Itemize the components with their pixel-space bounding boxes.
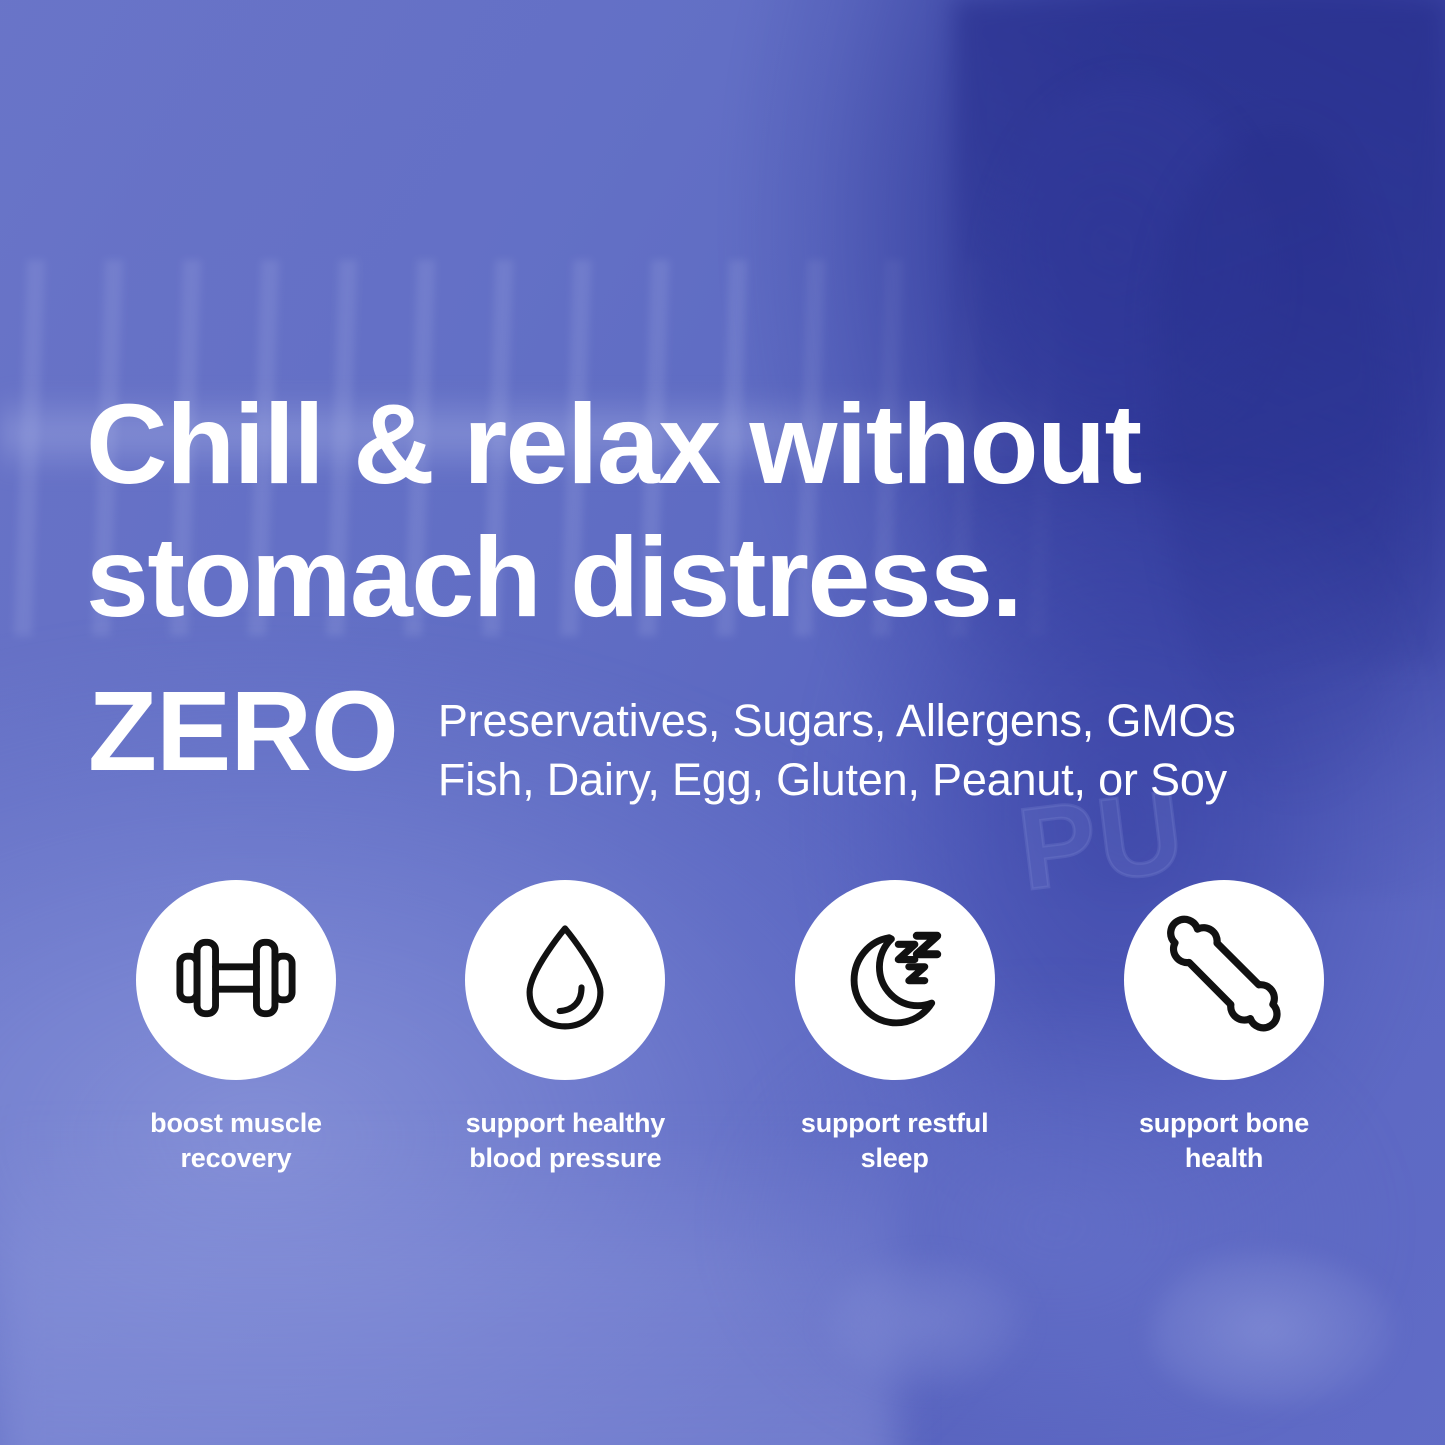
bone-icon [1157,911,1291,1050]
icon-badge-circle [795,880,995,1080]
benefit-item-restful-sleep: support restful sleep [745,880,1045,1175]
benefit-label: boost muscle recovery [150,1106,322,1175]
benefit-item-bone-health: support bone health [1074,880,1374,1175]
benefit-item-blood-pressure: support healthy blood pressure [415,880,715,1175]
zero-word: ZERO [88,672,398,792]
benefit-label: support healthy blood pressure [466,1106,666,1175]
benefits-row: boost muscle recovery support healthy bl… [86,880,1374,1175]
benefit-item-muscle-recovery: boost muscle recovery [86,880,386,1175]
icon-badge-circle [1124,880,1324,1080]
benefit-label: support restful sleep [801,1106,989,1175]
zero-claim-block: ZERO Preservatives, Sugars, Allergens, G… [88,672,1236,809]
content-layer: Chill & relax without stomach distress. … [0,0,1445,1445]
zero-exclusions-list: Preservatives, Sugars, Allergens, GMOs F… [438,672,1236,809]
page-title: Chill & relax without stomach distress. [86,378,1376,645]
dumbbell-icon [170,912,302,1049]
benefit-label: support bone health [1139,1106,1309,1175]
icon-badge-circle [136,880,336,1080]
icon-badge-circle [465,880,665,1080]
moon-sleep-icon [829,912,961,1049]
water-drop-icon [506,919,624,1042]
promo-banner: PU Chill & relax without stomach distres… [0,0,1445,1445]
